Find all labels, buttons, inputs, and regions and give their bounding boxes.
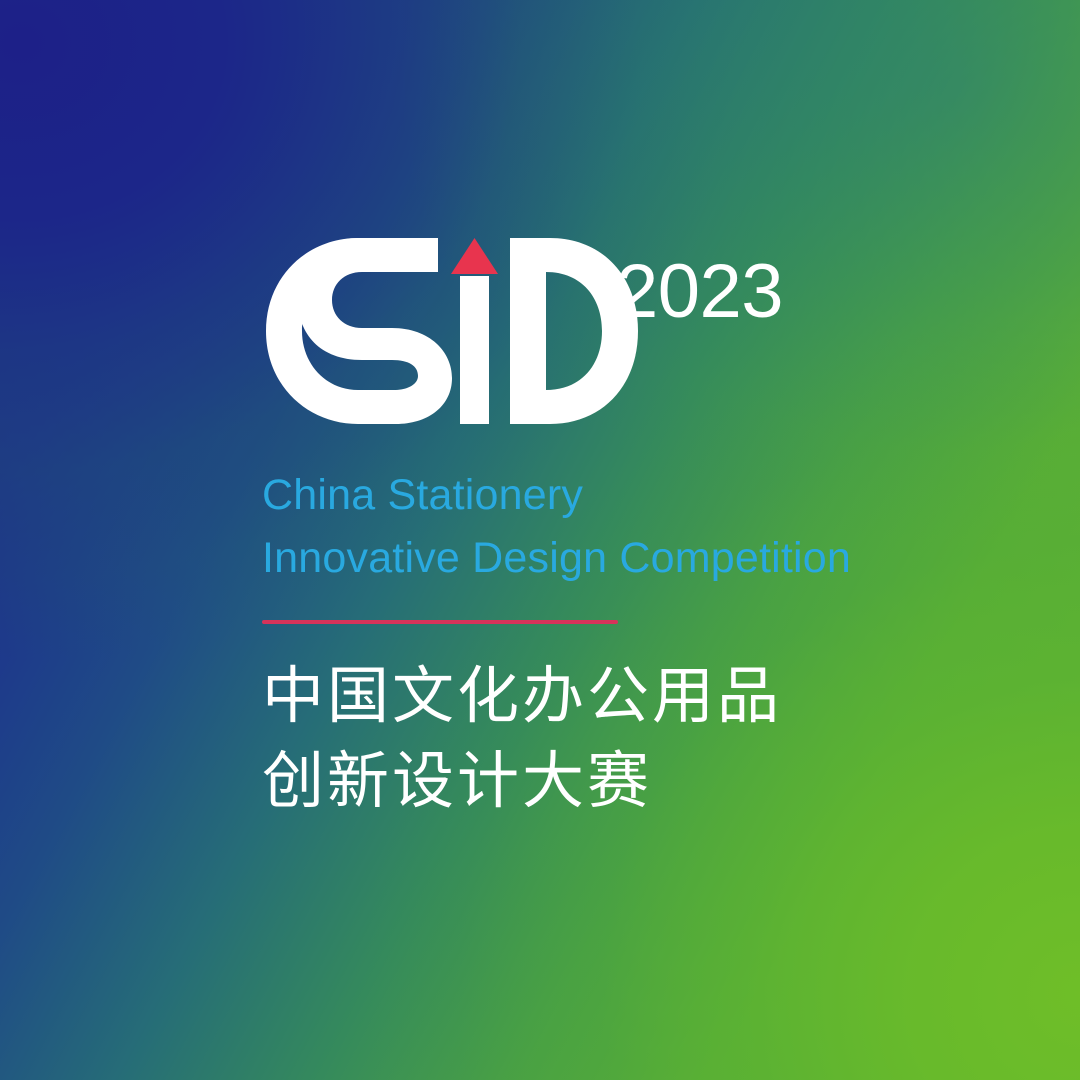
- tagline-line-2: Innovative Design Competition: [262, 527, 962, 590]
- tagline-line-1: China Stationery: [262, 464, 962, 527]
- poster-canvas: 2023 China Stationery Innovative Design …: [0, 0, 1080, 1080]
- poster-content: 2023 China Stationery Innovative Design …: [262, 232, 962, 824]
- csid-logo: 2023: [262, 232, 962, 430]
- chinese-title-line-1: 中国文化办公用品: [262, 654, 962, 739]
- csid-wordmark-icon: [262, 232, 642, 430]
- logo-year: 2023: [616, 254, 783, 330]
- divider-rule: [262, 620, 618, 624]
- chinese-title-line-2: 创新设计大赛: [262, 739, 962, 824]
- pencil-tip-triangle-icon: [451, 238, 498, 274]
- english-tagline: China Stationery Innovative Design Compe…: [262, 464, 962, 590]
- chinese-title: 中国文化办公用品 创新设计大赛: [262, 654, 962, 824]
